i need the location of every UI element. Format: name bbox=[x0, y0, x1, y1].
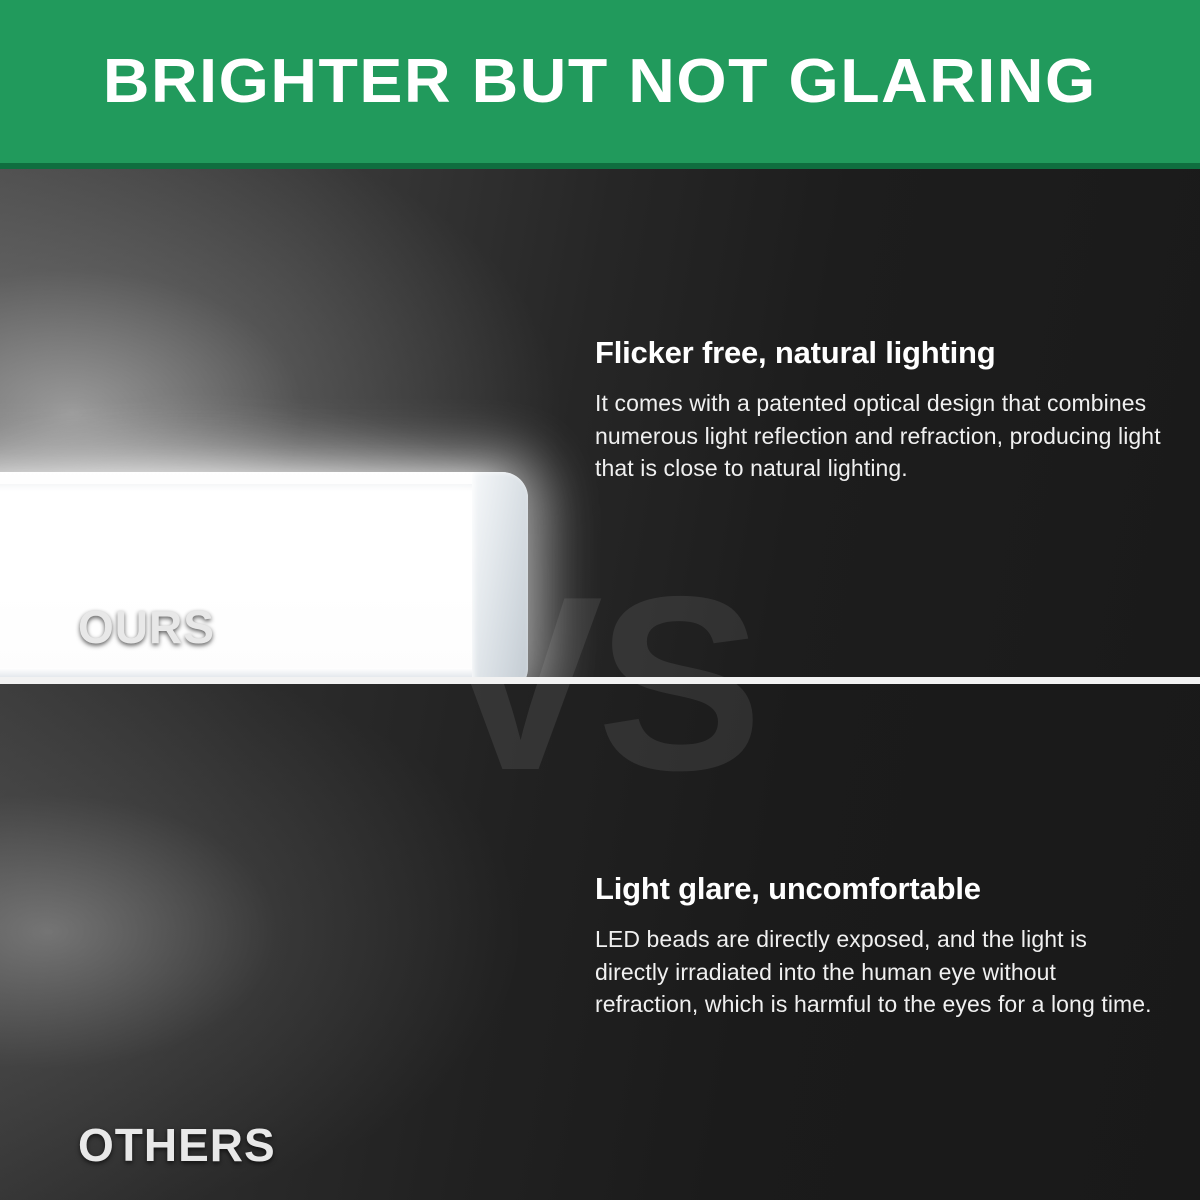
copy-block-ours: Flicker free, natural lighting It comes … bbox=[595, 336, 1165, 485]
fixture-diffuser-panel bbox=[0, 494, 484, 670]
fixture-top-lip bbox=[0, 484, 474, 492]
infographic-page: BRIGHTER BUT NOT GLARING bbox=[0, 0, 1200, 1200]
page-title: BRIGHTER BUT NOT GLARING bbox=[103, 51, 1097, 113]
fixture-end-cap bbox=[472, 472, 528, 677]
label-others: OTHERS bbox=[78, 1122, 276, 1168]
heading-ours: Flicker free, natural lighting bbox=[595, 336, 1165, 371]
body-others: LED beads are directly exposed, and the … bbox=[595, 923, 1165, 1022]
label-ours: OURS bbox=[78, 604, 215, 650]
header-banner: BRIGHTER BUT NOT GLARING bbox=[0, 0, 1200, 163]
heading-others: Light glare, uncomfortable bbox=[595, 872, 1165, 907]
fixture-bottom-lip bbox=[0, 668, 474, 677]
body-ours: It comes with a patented optical design … bbox=[595, 387, 1165, 486]
copy-block-others: Light glare, uncomfortable LED beads are… bbox=[595, 872, 1165, 1021]
panel-divider bbox=[0, 677, 1200, 684]
